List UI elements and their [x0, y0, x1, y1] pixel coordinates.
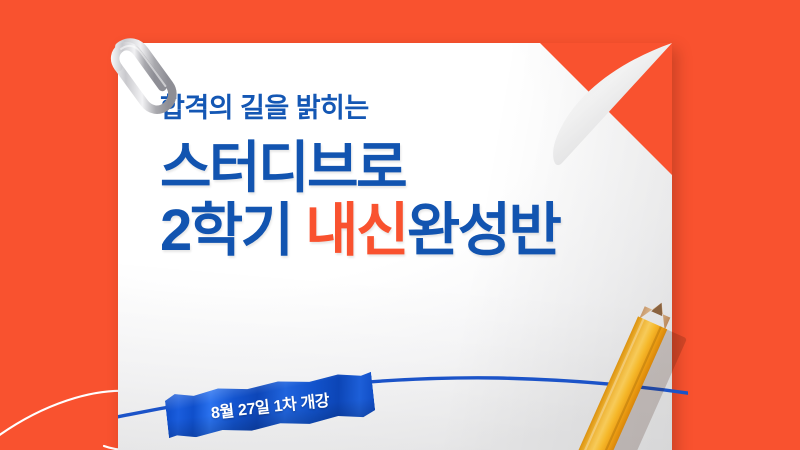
headline-group: 합격의 길을 밝히는 스터디브로 2학기 내신완성반	[160, 92, 680, 262]
title-part-semester: 2학기	[160, 198, 305, 263]
poster-title-line-2: 2학기 내신완성반	[160, 200, 680, 262]
title-part-highlight: 내신	[305, 198, 407, 263]
poster-canvas: 합격의 길을 밝히는 스터디브로 2학기 내신완성반	[0, 0, 800, 450]
poster-title-line-1: 스터디브로	[160, 138, 680, 198]
poster-subtitle: 합격의 길을 밝히는	[160, 92, 680, 126]
title-part-course: 완성반	[407, 198, 560, 263]
